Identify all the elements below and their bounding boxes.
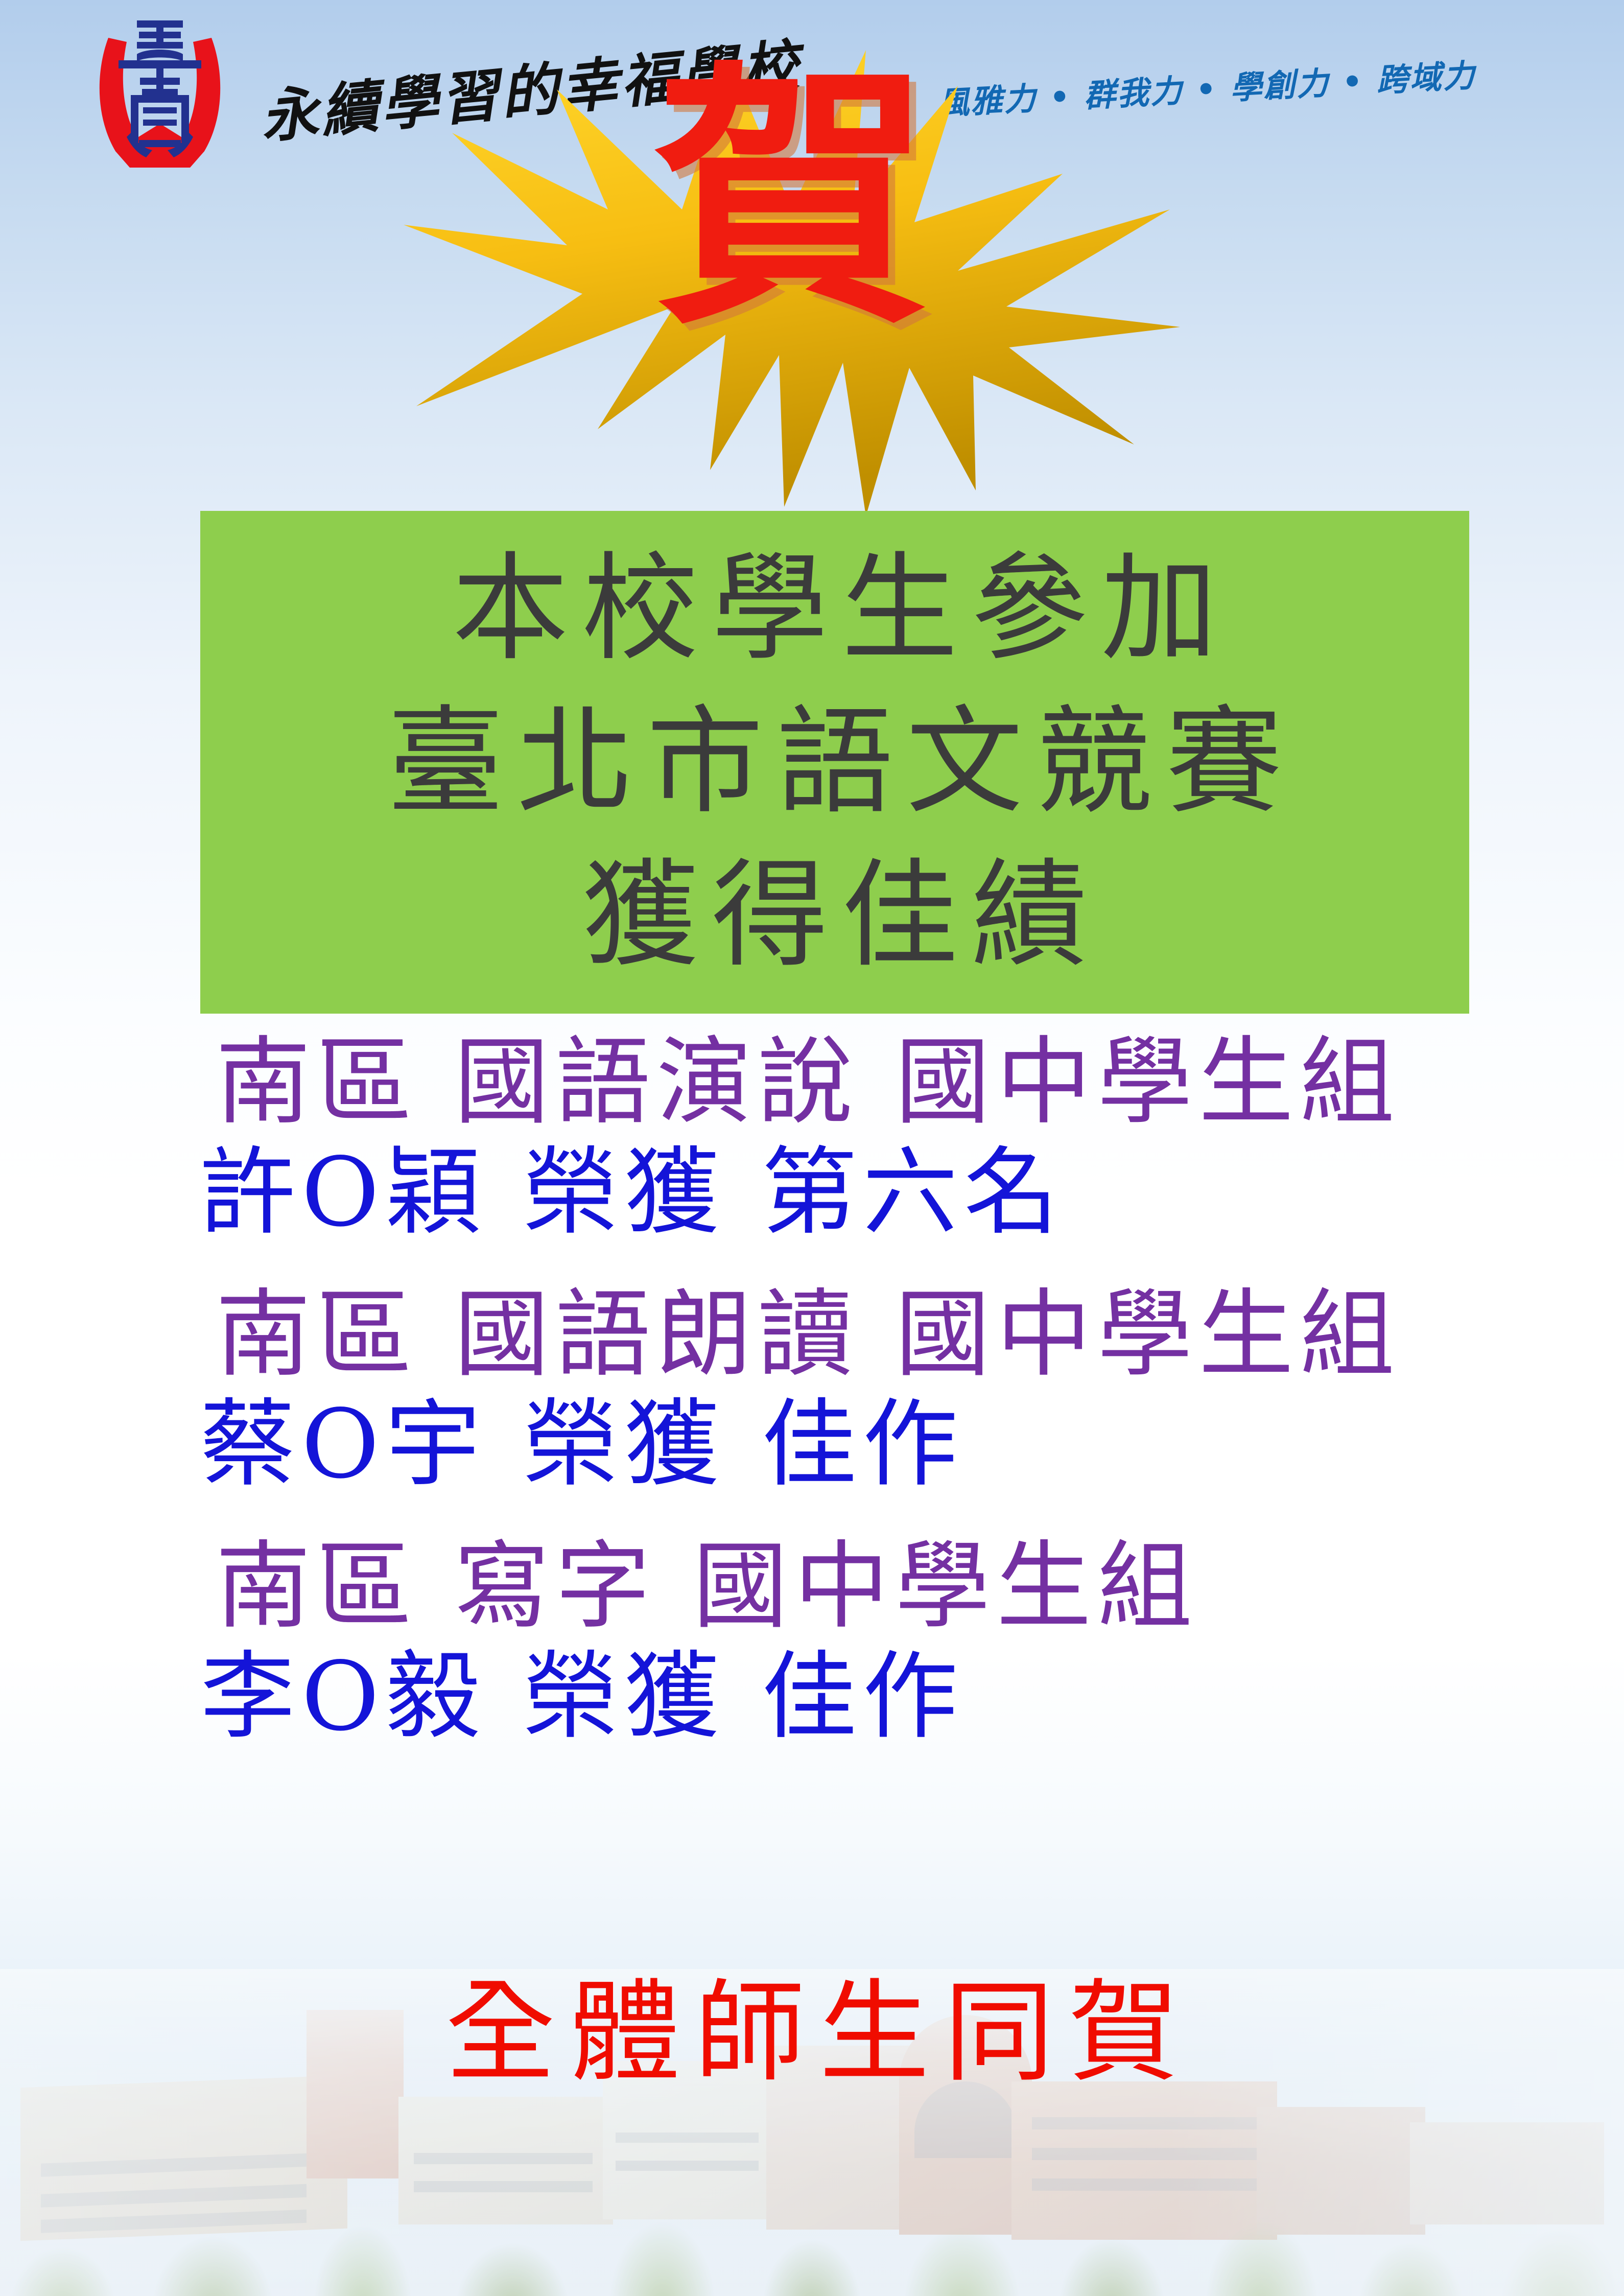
award-list: 南區 國語演說 國中學生組 許O穎 榮獲 第六名 南區 國語朗讀 國中學生組 蔡… [200, 1027, 1488, 1784]
award-result: 蔡O宇 榮獲 佳作 [200, 1389, 1488, 1500]
award-item: 南區 國語演說 國中學生組 許O穎 榮獲 第六名 [200, 1027, 1488, 1248]
banner-line-3: 獲得佳績 [569, 841, 1101, 990]
poster-canvas: 永續學習的幸福學校 風雅力 • 群我力 • 學創力 • 跨域力 賀 本校學生參加… [0, 0, 1624, 2296]
award-category: 南區 國語演說 國中學生組 [200, 1027, 1488, 1137]
banner-line-1: 本校學生參加 [439, 534, 1231, 684]
banner-line-2: 臺北市語文競賽 [374, 688, 1296, 837]
award-item: 南區 國語朗讀 國中學生組 蔡O宇 榮獲 佳作 [200, 1279, 1488, 1500]
award-result: 許O穎 榮獲 第六名 [200, 1137, 1488, 1248]
award-category: 南區 寫字 國中學生組 [200, 1531, 1488, 1642]
starburst-badge: 賀 [404, 41, 1180, 516]
announcement-banner: 本校學生參加 臺北市語文競賽 獲得佳績 [200, 511, 1469, 1014]
award-result: 李O毅 榮獲 佳作 [200, 1642, 1488, 1752]
congratulation-footer: 全體師生同賀 [0, 1972, 1624, 2094]
award-item: 南區 寫字 國中學生組 李O毅 榮獲 佳作 [200, 1531, 1488, 1752]
school-logo [86, 14, 234, 168]
he-character: 賀 [404, 61, 1180, 337]
award-category: 南區 國語朗讀 國中學生組 [200, 1279, 1488, 1390]
